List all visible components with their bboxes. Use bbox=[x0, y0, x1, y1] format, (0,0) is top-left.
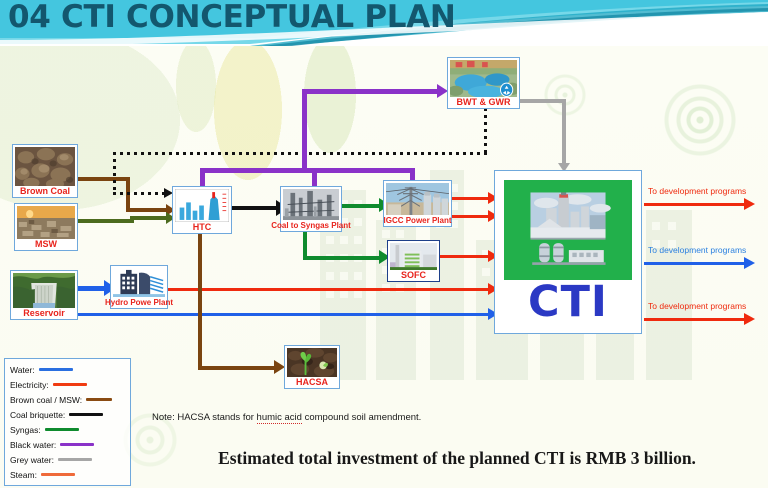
legend-swatch-steam bbox=[41, 473, 75, 476]
line-brown-coal-to-htc-h2 bbox=[126, 208, 168, 212]
legend-item-brown-coal-msw: Brown coal / MSW: bbox=[10, 392, 130, 407]
reservoir-dam-photo bbox=[13, 273, 75, 308]
note-text: Note: HACSA stands for humic acid compou… bbox=[152, 412, 421, 423]
legend-swatch-grey-water bbox=[58, 458, 92, 461]
legend: Water: Electricity: Brown coal / MSW: Co… bbox=[4, 358, 131, 486]
node-htc-label: HTC bbox=[193, 222, 212, 232]
legend-item-steam: Steam: bbox=[10, 467, 130, 482]
node-igcc-power-plant-label: IGCC Power Plant bbox=[384, 215, 452, 225]
line-reservoir-to-cti bbox=[78, 313, 494, 316]
brown-coal-photo bbox=[15, 147, 75, 186]
output-label-3: To development programs bbox=[648, 301, 746, 311]
node-igcc-power-plant[interactable]: IGCC Power Plant bbox=[383, 180, 452, 227]
line-bwt-recycle-v1 bbox=[484, 108, 487, 154]
legend-label-electricity: Electricity: bbox=[10, 380, 49, 390]
line-greywater-h bbox=[520, 99, 566, 103]
investment-statement: Estimated total investment of the planne… bbox=[150, 448, 764, 469]
page-title: 04 CTI CONCEPTUAL PLAN bbox=[8, 0, 456, 35]
node-sofc-label: SOFC bbox=[401, 270, 426, 280]
node-hydro-power-plant-label: Hydro Powe Plant bbox=[105, 297, 173, 307]
sofc-plant-photo bbox=[390, 243, 437, 270]
legend-label-grey-water: Grey water: bbox=[10, 455, 54, 465]
legend-swatch-coal-briquette bbox=[69, 413, 103, 416]
line-greywater-v bbox=[562, 99, 566, 167]
line-brown-coal-to-htc-h1 bbox=[78, 177, 130, 181]
line-htc-to-hacsa-v bbox=[198, 228, 202, 370]
water-treatment-photo bbox=[450, 60, 517, 97]
legend-item-syngas: Syngas: bbox=[10, 422, 130, 437]
node-hydro-power-plant[interactable]: Hydro Powe Plant bbox=[110, 265, 168, 309]
node-msw[interactable]: MSW bbox=[14, 203, 78, 251]
line-bwt-recycle-h bbox=[113, 152, 487, 155]
line-bwt-recycle-v2 bbox=[113, 152, 116, 194]
line-hydro-to-cti bbox=[168, 288, 494, 291]
line-htc-to-hacsa-h bbox=[198, 366, 278, 370]
node-cti-label: CTI bbox=[528, 280, 608, 324]
node-msw-label: MSW bbox=[35, 239, 57, 249]
note-prefix: Note: HACSA stands for bbox=[152, 412, 257, 423]
output-label-1: To development programs bbox=[648, 186, 746, 196]
legend-item-grey-water: Grey water: bbox=[10, 452, 130, 467]
line-bwt-recycle-h2 bbox=[113, 192, 166, 195]
legend-label-black-water: Black water: bbox=[10, 440, 56, 450]
legend-label-brown-coal-msw: Brown coal / MSW: bbox=[10, 395, 82, 405]
legend-swatch-syngas bbox=[45, 428, 79, 431]
line-blackwater-bus-h bbox=[200, 168, 415, 173]
note-term: humic acid bbox=[257, 412, 302, 424]
line-syngas-to-sofc-h bbox=[303, 256, 383, 260]
igcc-power-plant-photo bbox=[386, 183, 449, 215]
legend-label-steam: Steam: bbox=[10, 470, 37, 480]
line-syngas-to-igcc bbox=[341, 204, 383, 208]
node-coal-to-syngas-plant[interactable]: Coal to Syngas Plant bbox=[280, 186, 342, 232]
output-label-2: To development programs bbox=[648, 245, 746, 255]
node-brown-coal[interactable]: Brown Coal bbox=[12, 144, 78, 198]
seedling-soil-photo bbox=[287, 348, 337, 377]
legend-item-black-water: Black water: bbox=[10, 437, 130, 452]
line-sofc-to-cti bbox=[440, 255, 494, 258]
legend-swatch-brown-coal-msw bbox=[86, 398, 112, 401]
arrow-cti-output-1 bbox=[744, 198, 755, 210]
line-blackwater-riser-v bbox=[302, 89, 307, 173]
node-bwt-gwr-label: BWT & GWR bbox=[457, 97, 511, 107]
node-coal-to-syngas-plant-label: Coal to Syngas Plant bbox=[271, 220, 351, 230]
note-suffix: compound soil amendment. bbox=[302, 412, 421, 423]
node-sofc[interactable]: SOFC bbox=[387, 240, 440, 282]
legend-swatch-electricity bbox=[53, 383, 87, 386]
legend-item-electricity: Electricity: bbox=[10, 377, 130, 392]
node-hacsa-label: HACSA bbox=[296, 377, 328, 387]
line-cti-output-1 bbox=[644, 203, 750, 206]
line-msw-to-htc-h2 bbox=[130, 216, 168, 220]
arrow-cti-output-3 bbox=[744, 313, 755, 325]
node-hacsa[interactable]: HACSA bbox=[284, 345, 340, 389]
municipal-solid-waste-photo bbox=[17, 206, 75, 239]
slide-header: 04 CTI CONCEPTUAL PLAN bbox=[0, 0, 768, 46]
legend-label-syngas: Syngas: bbox=[10, 425, 41, 435]
node-cti[interactable]: CTI bbox=[494, 170, 642, 334]
line-cti-output-3 bbox=[644, 318, 750, 321]
node-bwt-gwr[interactable]: BWT & GWR bbox=[447, 57, 520, 109]
arrow-cti-output-2 bbox=[744, 257, 755, 269]
legend-label-water: Water: bbox=[10, 365, 35, 375]
node-reservoir[interactable]: Reservoir bbox=[10, 270, 78, 320]
legend-label-coal-briquette: Coal briquette: bbox=[10, 410, 65, 420]
line-cti-output-2 bbox=[644, 262, 750, 265]
node-brown-coal-label: Brown Coal bbox=[20, 186, 70, 196]
line-htc-to-syngas bbox=[232, 206, 280, 210]
legend-item-water: Water: bbox=[10, 362, 130, 377]
legend-swatch-black-water bbox=[60, 443, 94, 446]
cti-image-panel bbox=[504, 180, 632, 280]
slide-canvas: 04 CTI CONCEPTUAL PLAN bbox=[0, 0, 768, 488]
legend-swatch-water bbox=[39, 368, 73, 371]
cti-industrial-photo bbox=[520, 189, 616, 271]
legend-item-coal-briquette: Coal briquette: bbox=[10, 407, 130, 422]
hydro-power-plant-icon bbox=[113, 268, 165, 297]
htc-chart-icon bbox=[175, 189, 229, 222]
line-blackwater-top-h bbox=[302, 89, 440, 94]
syngas-plant-photo bbox=[283, 189, 339, 220]
node-reservoir-label: Reservoir bbox=[23, 308, 65, 318]
line-msw-to-htc-h1 bbox=[78, 219, 134, 223]
node-htc[interactable]: HTC bbox=[172, 186, 232, 234]
